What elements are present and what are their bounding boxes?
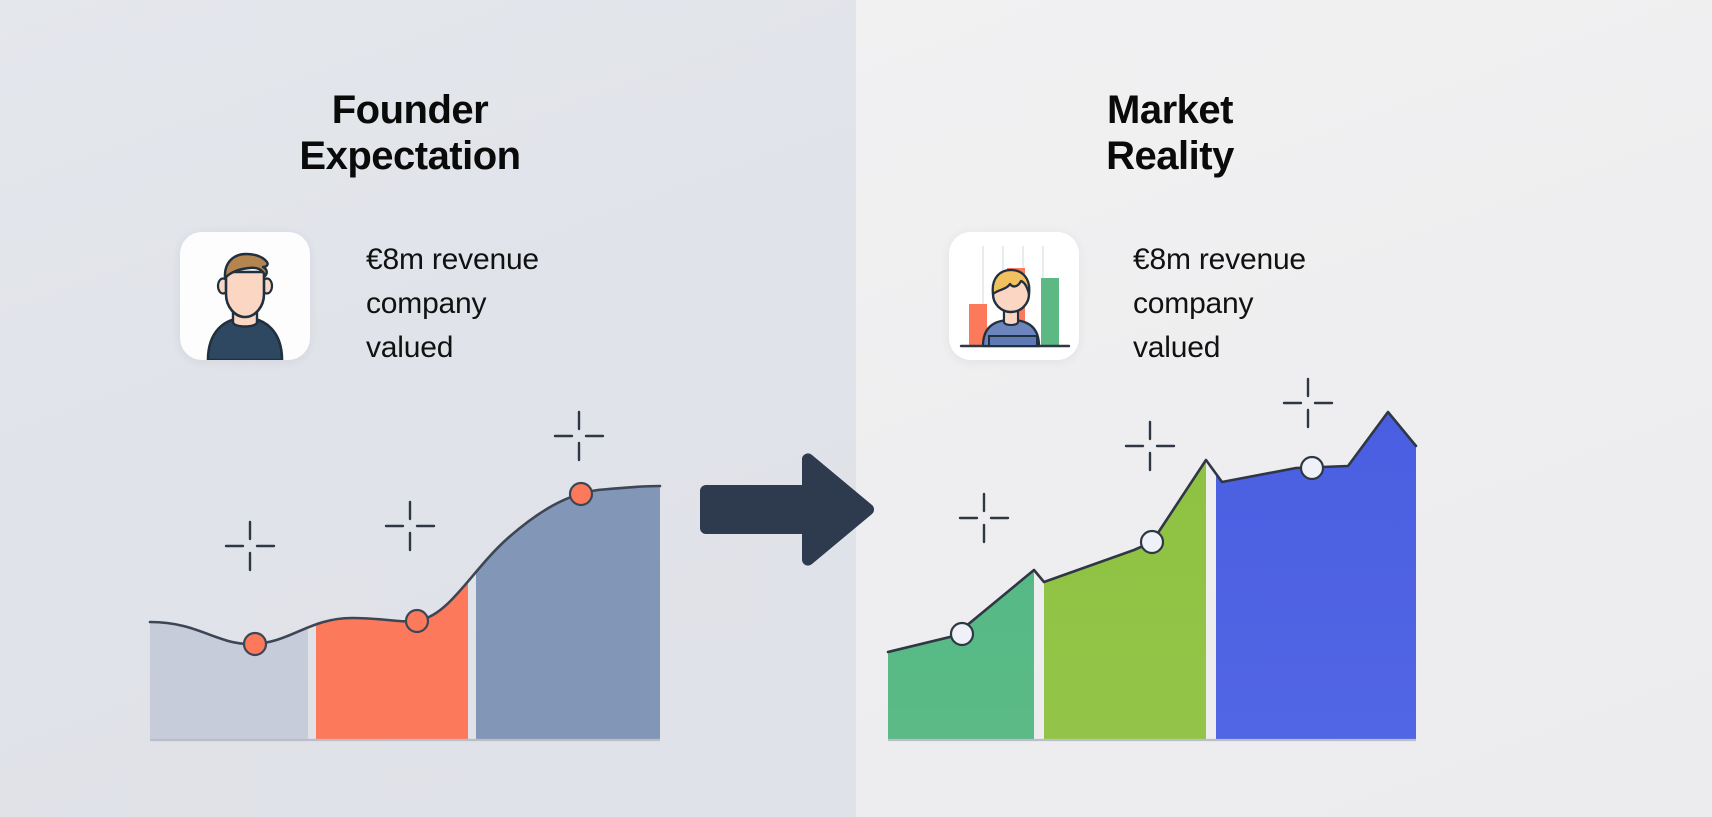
chart-area-segments: [888, 412, 1416, 740]
chart-data-point[interactable]: [1141, 531, 1163, 553]
chart-data-point[interactable]: [406, 610, 428, 632]
chart-data-point[interactable]: [951, 623, 973, 645]
chart-area-segments: [150, 486, 660, 740]
panel-founder-expectation: Founder Expectation €8m revenue company …: [0, 0, 856, 817]
founder-expectation-body-text: €8m revenue company valued: [366, 238, 686, 369]
founder-expectation-chart: [120, 370, 740, 765]
transition-arrow: [700, 453, 880, 568]
chart-data-point[interactable]: [570, 483, 592, 505]
person-avatar-icon: [180, 232, 310, 360]
panel-market-reality: Market Reality: [856, 0, 1712, 817]
right-arrow-icon: [700, 453, 880, 568]
market-reality-chart: [876, 370, 1496, 765]
comparison-diagram: Founder Expectation €8m revenue company …: [0, 0, 1712, 817]
market-reality-body-text: €8m revenue company valued: [1133, 238, 1453, 369]
analyst-with-bar-chart-icon: [949, 232, 1079, 360]
analyst-chart-card: [949, 232, 1079, 360]
page-title-founder-expectation: Founder Expectation: [170, 88, 650, 179]
chart-data-point[interactable]: [244, 633, 266, 655]
page-title-market-reality: Market Reality: [930, 88, 1410, 179]
chart-data-point[interactable]: [1301, 457, 1323, 479]
person-avatar-card: [180, 232, 310, 360]
